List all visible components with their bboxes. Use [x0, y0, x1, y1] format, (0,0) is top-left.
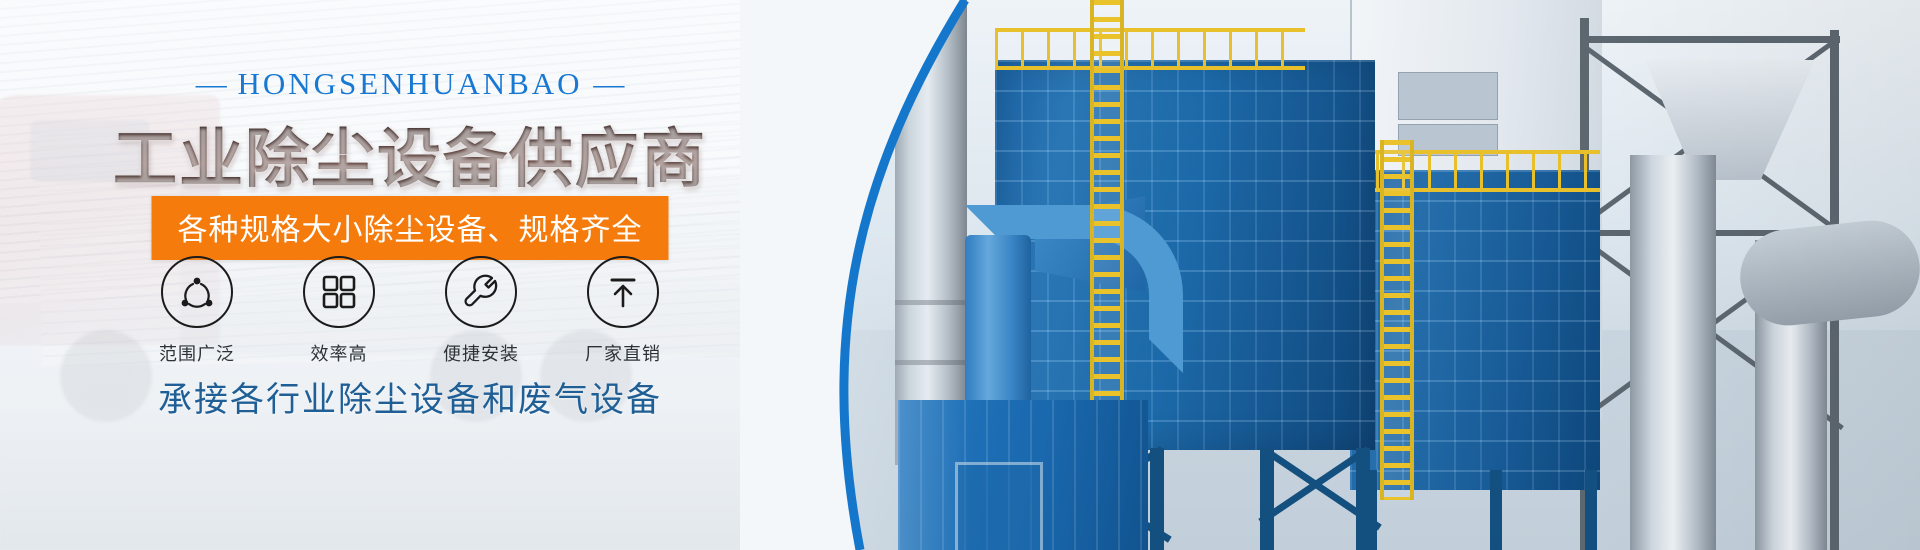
grid-squares-glyph — [321, 274, 357, 310]
grid-squares-icon — [303, 256, 375, 328]
feature-label: 便捷安装 — [438, 340, 524, 366]
network-nodes-icon — [161, 256, 233, 328]
feature-item-factory-direct[interactable]: 厂家直销 — [580, 256, 666, 366]
feature-label: 范围广泛 — [154, 340, 240, 366]
wrench-glyph — [462, 273, 500, 311]
caged-ladder — [1380, 140, 1414, 500]
dash-right: — — [593, 66, 624, 101]
network-nodes-glyph — [178, 273, 216, 311]
cyclone-separator — [1630, 155, 1716, 550]
support-leg — [1356, 448, 1370, 550]
hero-banner: — HONGSENHUANBAO — 工业除尘设备供应商 各种规格大小除尘设备、… — [0, 0, 1920, 550]
tagline: 承接各行业除尘设备和废气设备 — [0, 372, 820, 421]
industrial-equipment-photo — [790, 0, 1920, 550]
support-leg — [1260, 448, 1274, 550]
highlight-banner: 各种规格大小除尘设备、规格齐全 — [152, 196, 669, 260]
support-leg — [1585, 470, 1597, 550]
hero-content: — HONGSENHUANBAO — 工业除尘设备供应商 各种规格大小除尘设备、… — [0, 0, 820, 550]
feature-item-efficiency[interactable]: 效率高 — [296, 256, 382, 366]
exhaust-stack — [895, 0, 967, 465]
brand-eyebrow: — HONGSENHUANBAO — — [0, 66, 820, 102]
feature-list: 范围广泛 效率高 — [0, 256, 820, 366]
stack-band — [895, 360, 967, 365]
feature-label: 厂家直销 — [580, 340, 666, 366]
feature-item-coverage[interactable]: 范围广泛 — [154, 256, 240, 366]
feature-item-installation[interactable]: 便捷安装 — [438, 256, 524, 366]
brand-pinyin: HONGSENHUANBAO — [237, 66, 582, 101]
dash-left: — — [196, 66, 227, 101]
arrow-up-to-bar-glyph — [605, 274, 641, 310]
page-title: 工业除尘设备供应商 — [0, 108, 820, 200]
feature-label: 效率高 — [296, 340, 382, 366]
arrow-up-to-bar-icon — [587, 256, 659, 328]
access-door — [955, 462, 1043, 550]
stack-band — [895, 300, 967, 305]
wrench-icon — [445, 256, 517, 328]
support-leg — [1490, 470, 1502, 550]
steel-beam — [1580, 36, 1840, 43]
safety-railing — [995, 28, 1305, 70]
building-window — [1398, 72, 1498, 120]
